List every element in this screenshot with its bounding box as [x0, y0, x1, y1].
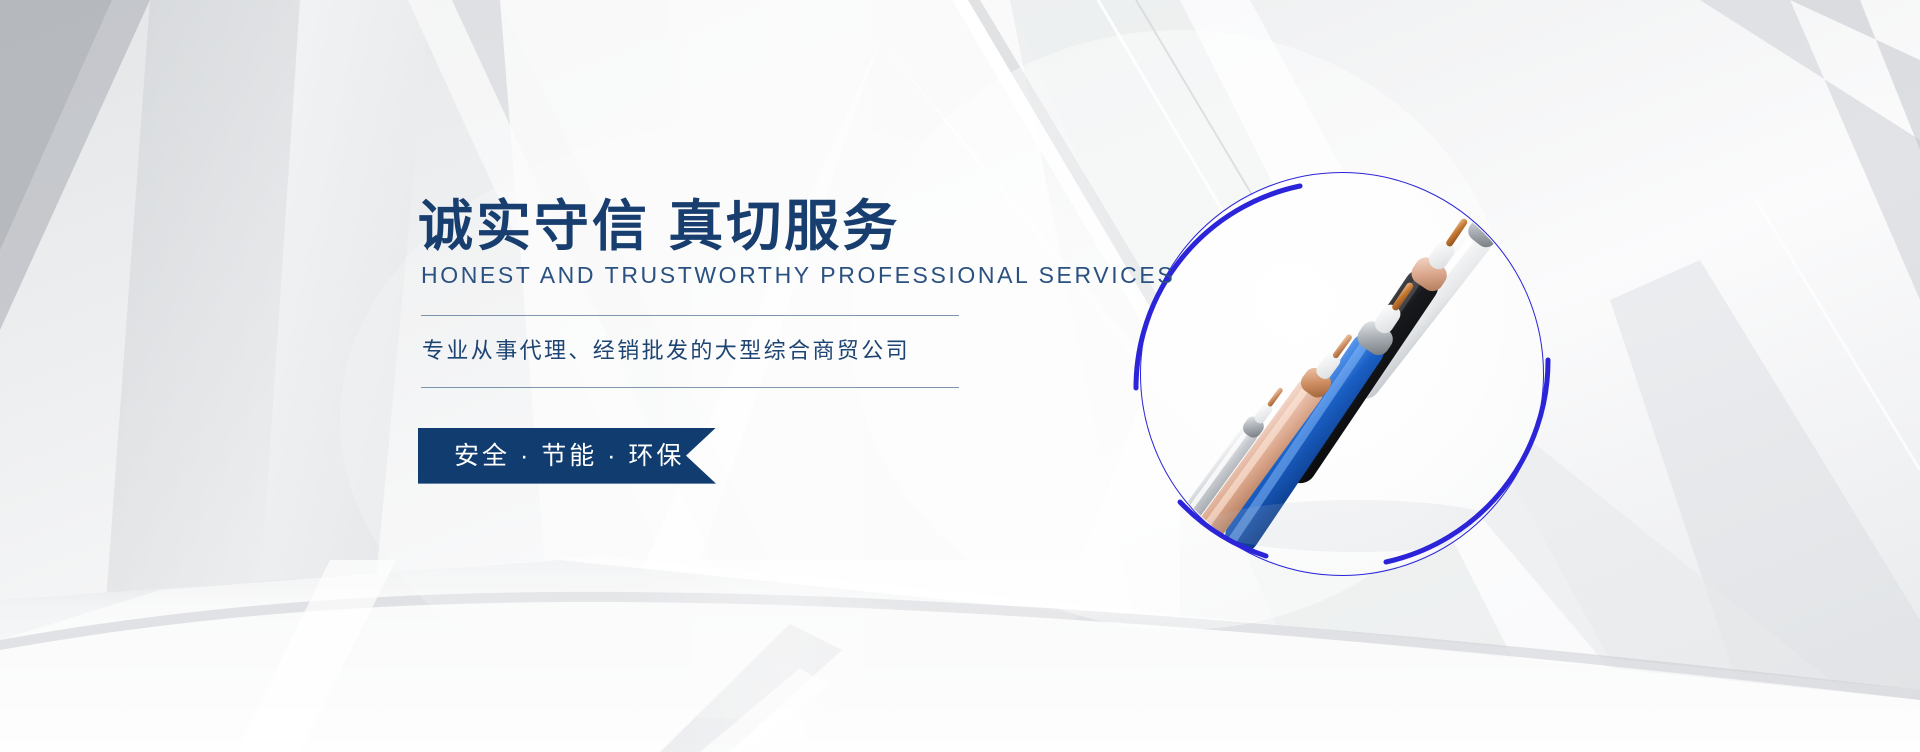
hero-text-block: 诚实守信 真切服务 HONEST AND TRUSTWORTHY PROFESS… [418, 196, 1058, 484]
divider-top [421, 315, 959, 316]
badge-label: 安全 · 节能 · 环保 [418, 442, 684, 470]
page-title: 诚实守信 真切服务 [418, 196, 1058, 258]
divider-bottom [421, 387, 959, 388]
subtitle-english: HONEST AND TRUSTWORTHY PROFESSIONAL SERV… [421, 262, 1058, 289]
hero-banner: 诚实守信 真切服务 HONEST AND TRUSTWORTHY PROFESS… [0, 0, 1920, 752]
medallion-accent-arcs [1118, 150, 1566, 598]
product-medallion [1118, 150, 1566, 598]
feature-badge: 安全 · 节能 · 环保 [418, 428, 716, 484]
subtitle-chinese: 专业从事代理、经销批发的大型综合商贸公司 [422, 333, 1058, 365]
